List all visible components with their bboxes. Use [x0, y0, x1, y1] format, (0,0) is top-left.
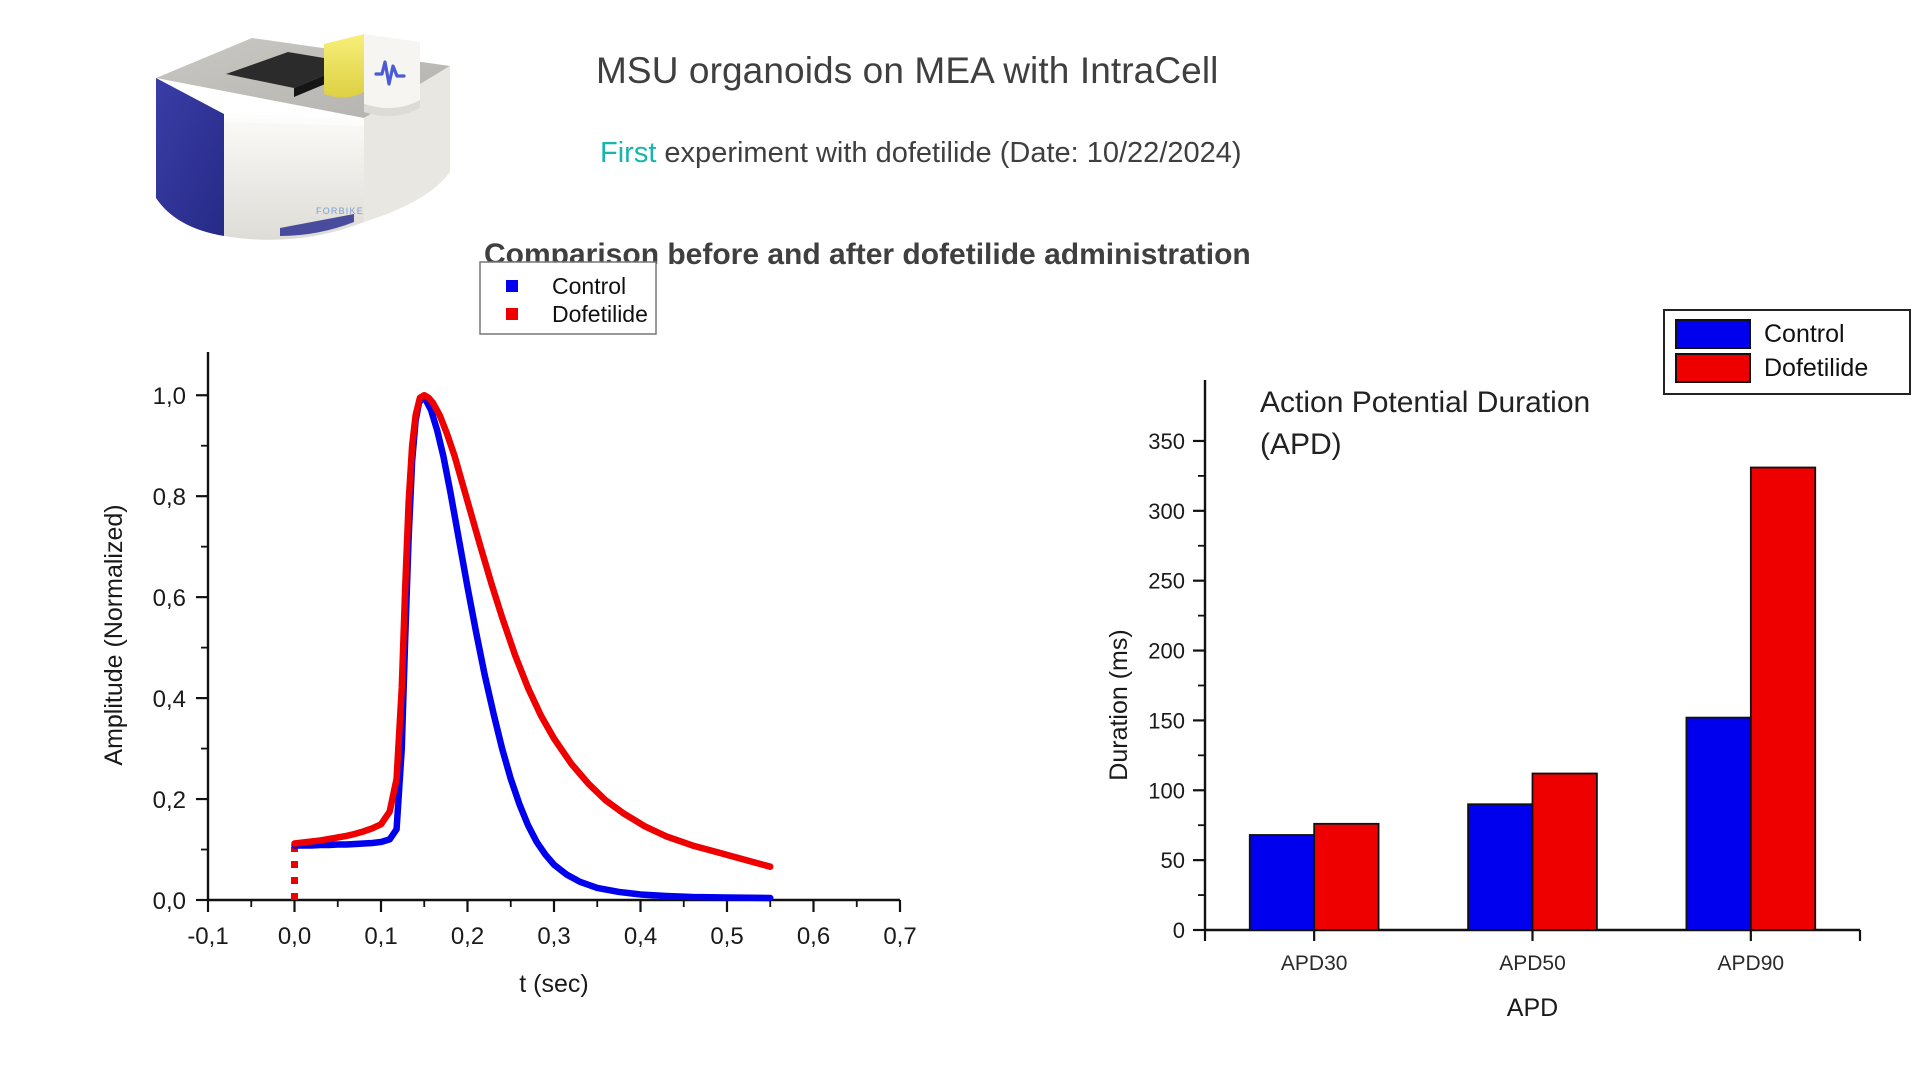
x-tick-label: 0,2: [451, 923, 484, 950]
x-tick-label: 0,6: [797, 923, 830, 950]
y-tick-label: 1,0: [153, 383, 186, 410]
mea-instrument-image: FORBIKE: [128, 22, 458, 252]
x-tick-label: 0,1: [364, 923, 397, 950]
y-tick-label: 0,2: [153, 787, 186, 814]
trace-control: [295, 398, 771, 898]
legend-swatch-dofetilide: [1676, 354, 1750, 382]
bar-apd50-control: [1468, 804, 1532, 930]
x-category-label: APD90: [1718, 952, 1785, 975]
legend-label-control: Control: [552, 273, 626, 299]
legend-label-dofetilide: Dofetilide: [552, 301, 648, 327]
apd-bar-chart: 050100150200250300350APD30APD50APD90APDD…: [1040, 360, 1920, 1060]
y-axis-label: Amplitude (Normalized): [100, 504, 128, 765]
y-tick-label: 50: [1161, 848, 1185, 873]
x-tick-label: 0,5: [710, 923, 743, 950]
legend-label-dofetilide: Dofetilide: [1764, 354, 1868, 382]
y-tick-label: 200: [1148, 639, 1185, 664]
x-tick-label: 0,0: [278, 923, 311, 950]
y-tick-label: 150: [1148, 708, 1185, 733]
bar-apd50-dofetilide: [1533, 774, 1597, 930]
trace-dofetilide: [295, 395, 771, 866]
plot-title-line: Action Potential Duration: [1260, 386, 1590, 419]
x-tick-label: 0,7: [883, 923, 916, 950]
x-tick-label: -0,1: [187, 923, 228, 950]
y-tick-label: 100: [1148, 778, 1185, 803]
legend-marker-dofetilide: [506, 308, 518, 320]
bar-apd30-control: [1250, 835, 1314, 930]
x-tick-label: 0,4: [624, 923, 657, 950]
y-tick-label: 0,0: [153, 888, 186, 915]
x-category-label: APD50: [1499, 952, 1566, 975]
subtitle-highlight: First: [600, 137, 656, 169]
legend-marker-control: [506, 280, 518, 292]
x-axis-label: APD: [1507, 994, 1558, 1022]
legend-label-control: Control: [1764, 320, 1845, 348]
x-tick-label: 0,3: [537, 923, 570, 950]
y-tick-label: 0,6: [153, 585, 186, 612]
bar-apd90-control: [1686, 718, 1750, 930]
y-tick-label: 250: [1148, 569, 1185, 594]
page-title: MSU organoids on MEA with IntraCell: [596, 50, 1219, 92]
y-tick-label: 300: [1148, 499, 1185, 524]
y-tick-label: 0,8: [153, 484, 186, 511]
page-subtitle: First experiment with dofetilide (Date: …: [600, 137, 1242, 170]
y-tick-label: 0,4: [153, 686, 186, 713]
x-category-label: APD30: [1281, 952, 1348, 975]
y-tick-label: 350: [1148, 429, 1185, 454]
action-potential-trace-chart: 0,00,20,40,60,81,0-0,10,00,10,20,30,40,5…: [60, 310, 980, 1050]
x-axis-label: t (sec): [519, 970, 588, 998]
y-axis-label: Duration (ms): [1105, 629, 1133, 780]
plot-title-line: (APD): [1260, 428, 1342, 461]
bar-apd90-dofetilide: [1751, 468, 1815, 930]
subtitle-rest: experiment with dofetilide (Date: 10/22/…: [656, 137, 1241, 169]
y-tick-label: 0: [1173, 918, 1185, 943]
device-brand-text: FORBIKE: [316, 206, 364, 216]
slide-root: FORBIKE MSU organoids on MEA with IntraC…: [0, 0, 1920, 1080]
legend-swatch-control: [1676, 320, 1750, 348]
bar-apd30-dofetilide: [1314, 824, 1378, 930]
